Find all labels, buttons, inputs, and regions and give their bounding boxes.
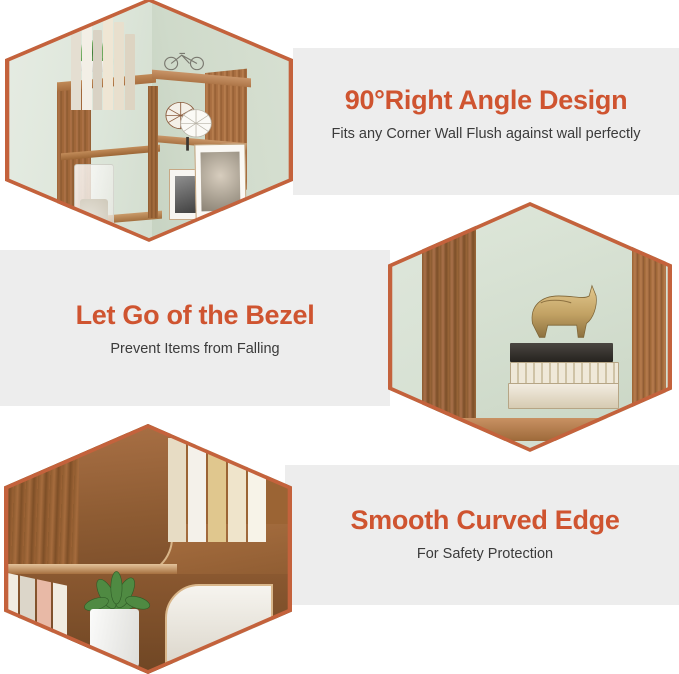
scene-curved-edge-closeup	[4, 424, 292, 674]
items-on-top-shelf	[495, 202, 602, 203]
shelf-corner-divider	[148, 86, 158, 218]
feature-2-subheading: Prevent Items from Falling	[10, 341, 380, 358]
books-lower-left	[4, 572, 67, 660]
feature-text-2: Let Go of the Bezel Prevent Items from F…	[10, 300, 380, 358]
cube-left-slats	[422, 202, 476, 441]
glass-jar	[74, 164, 113, 234]
scene-shelf-cube	[388, 202, 672, 452]
books-upper-left	[71, 13, 134, 111]
feature-3-heading: Smooth Curved Edge	[295, 505, 675, 536]
feature-1-subheading: Fits any Corner Wall Flush against wall …	[300, 126, 672, 143]
cube-bottom-rail	[422, 418, 666, 442]
bicycle-ornament-icon	[161, 49, 207, 71]
books-upper-right	[168, 429, 266, 542]
rounded-corner-panel	[79, 424, 173, 576]
feature-2-heading: Let Go of the Bezel	[10, 300, 380, 331]
feature-image-3-smooth-curved-edge	[4, 424, 292, 674]
feature-3-subheading: For Safety Protection	[295, 546, 675, 563]
feature-1-heading: 90°Right Angle Design	[300, 85, 672, 116]
book-patterned	[510, 362, 619, 385]
curved-edge-panel	[165, 584, 273, 663]
shelf-cube	[422, 202, 666, 452]
feature-text-1: 90°Right Angle Design Fits any Corner Wa…	[300, 85, 672, 143]
scene-corner-shelf	[5, 0, 293, 242]
book-dark	[510, 343, 613, 362]
feature-image-1-right-angle-design	[5, 0, 293, 242]
brass-rhino-figurine-icon	[520, 277, 603, 346]
infographic-canvas: 90°Right Angle Design Fits any Corner Wa…	[0, 0, 679, 661]
book-cream	[508, 383, 620, 409]
white-plant-pot	[90, 609, 139, 669]
feature-image-2-let-go-of-the-bezel	[388, 202, 672, 452]
feature-text-3: Smooth Curved Edge For Safety Protection	[295, 505, 675, 563]
picture-frame-large	[194, 144, 246, 220]
cube-right-side	[632, 202, 666, 436]
